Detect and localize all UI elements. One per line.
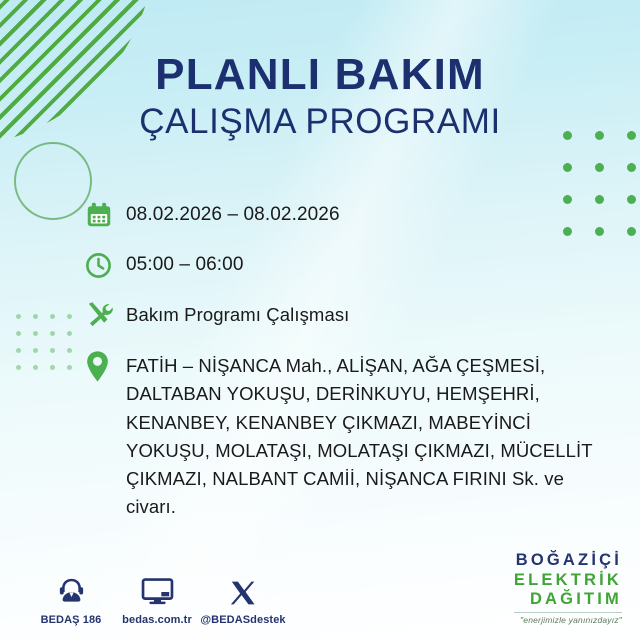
- decor-dot: [50, 331, 55, 336]
- decor-dot: [627, 163, 636, 172]
- logo-tagline: "enerjimizle yanınızdayız": [514, 612, 622, 625]
- decor-dot: [16, 365, 21, 370]
- tools-icon: [84, 298, 126, 332]
- page-title: PLANLI BAKIM: [0, 52, 640, 98]
- decor-dot: [67, 365, 72, 370]
- info-row-time: 05:00 – 06:00: [84, 248, 596, 282]
- decor-dot: [67, 331, 72, 336]
- logo-line-2: ELEKTRİK: [514, 572, 622, 589]
- headset-icon: [56, 571, 87, 607]
- info-row-work-type: Bakım Programı Çalışması: [84, 298, 596, 332]
- contact-phone[interactable]: BEDAŞ 186: [28, 571, 114, 626]
- decor-dot: [595, 227, 604, 236]
- calendar-icon: [84, 198, 126, 232]
- circle-outline-decoration: [14, 142, 92, 220]
- logo-line-1: BOĞAZİÇİ: [514, 552, 622, 569]
- decor-dot: [16, 348, 21, 353]
- decor-dot: [50, 365, 55, 370]
- decor-dot: [595, 163, 604, 172]
- time-range-value: 05:00 – 06:00: [126, 248, 244, 279]
- decor-dot: [16, 314, 21, 319]
- decor-dot: [50, 348, 55, 353]
- decor-dot: [16, 331, 21, 336]
- x-logo-icon: [229, 571, 257, 607]
- contact-x-label: @BEDASdestek: [200, 614, 285, 626]
- page-header: PLANLI BAKIM ÇALIŞMA PROGRAMI: [0, 52, 640, 142]
- decor-dot: [627, 195, 636, 204]
- decor-dot: [67, 314, 72, 319]
- decor-dot: [33, 331, 38, 336]
- contact-list: BEDAŞ 186 bedas.com.tr: [28, 571, 286, 626]
- location-value: FATİH – NİŞANCA Mah., ALİŞAN, AĞA ÇEŞMES…: [126, 348, 596, 522]
- info-row-location: FATİH – NİŞANCA Mah., ALİŞAN, AĞA ÇEŞMES…: [84, 348, 596, 522]
- decor-dot: [33, 365, 38, 370]
- info-list: 08.02.2026 – 08.02.2026 05:00 – 06:00: [84, 198, 596, 522]
- decor-dot: [563, 163, 572, 172]
- decor-dot: [595, 195, 604, 204]
- map-pin-icon: [84, 348, 126, 380]
- planned-maintenance-poster: PLANLI BAKIM ÇALIŞMA PROGRAMI: [0, 0, 640, 640]
- decor-dot: [33, 348, 38, 353]
- dot-grid-left-decoration: [10, 308, 78, 376]
- monitor-icon: [141, 571, 174, 607]
- work-type-value: Bakım Programı Çalışması: [126, 298, 349, 328]
- contact-website[interactable]: bedas.com.tr: [114, 571, 200, 626]
- decor-dot: [67, 348, 72, 353]
- contact-website-label: bedas.com.tr: [122, 614, 192, 626]
- decor-dot: [50, 314, 55, 319]
- decor-dot: [627, 227, 636, 236]
- decor-dot: [33, 314, 38, 319]
- page-subtitle: ÇALIŞMA PROGRAMI: [0, 102, 640, 142]
- clock-icon: [84, 248, 126, 282]
- contact-phone-label: BEDAŞ 186: [41, 614, 102, 626]
- info-row-date: 08.02.2026 – 08.02.2026: [84, 198, 596, 232]
- logo-line-3: DAĞITIM: [514, 591, 622, 608]
- contact-x-social[interactable]: @BEDASdestek: [200, 571, 286, 626]
- date-range-value: 08.02.2026 – 08.02.2026: [126, 198, 340, 229]
- bedas-logo: BOĞAZİÇİ ELEKTRİK DAĞITIM "enerjimizle y…: [514, 552, 622, 624]
